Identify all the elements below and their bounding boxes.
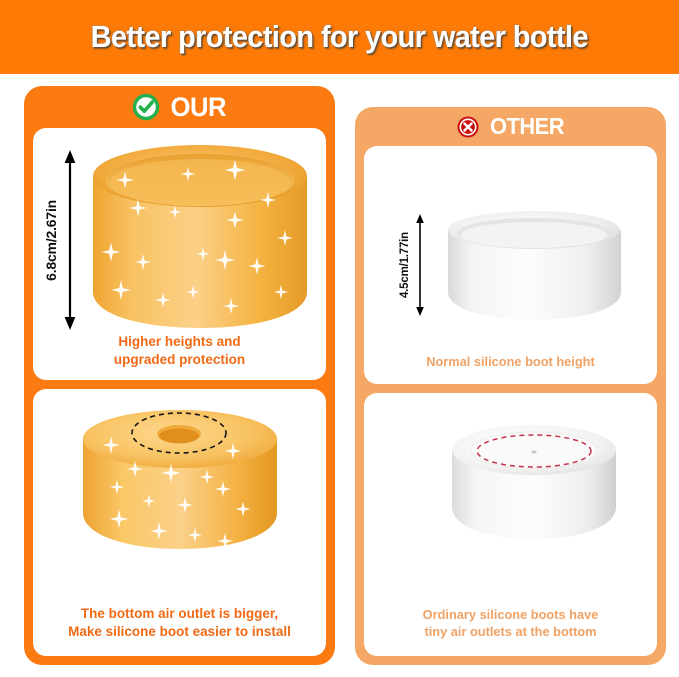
our-panel: OUR 6.8cm/2.67in bbox=[24, 86, 335, 665]
green-check-circle-icon bbox=[131, 92, 161, 122]
tiny-air-outlet-card: Ordinary silicone boots have tiny air ou… bbox=[364, 393, 657, 656]
higher-height-card: 6.8cm/2.67in bbox=[33, 128, 326, 380]
other-panel: OTHER 4.5cm/1.77in bbox=[355, 107, 666, 665]
header-banner: Better protection for your water bottle bbox=[0, 0, 679, 74]
height-dimension-label-other: 4.5cm/1.77in bbox=[399, 232, 411, 298]
tiny-air-outlet-figure bbox=[364, 393, 657, 607]
white-silicone-boot-bottom-view bbox=[446, 415, 626, 555]
height-dimension-label-our: 6.8cm/2.67in bbox=[43, 200, 59, 281]
double-arrow-icon bbox=[62, 150, 78, 330]
double-arrow-icon bbox=[414, 214, 426, 316]
comparison-area: OUR 6.8cm/2.67in bbox=[0, 74, 679, 677]
other-panel-label: OTHER bbox=[489, 113, 563, 140]
our-panel-header: OUR bbox=[24, 86, 335, 128]
white-silicone-boot-short bbox=[442, 208, 627, 328]
tiny-air-outlet-caption: Ordinary silicone boots have tiny air ou… bbox=[364, 607, 657, 656]
orange-silicone-boot-tall bbox=[85, 142, 315, 342]
other-cards: 4.5cm/1.77in bbox=[364, 146, 657, 656]
our-panel-label: OUR bbox=[171, 92, 227, 123]
height-dimension-other: 4.5cm/1.77in bbox=[399, 214, 426, 316]
red-cross-circle-icon bbox=[456, 115, 480, 139]
bottom-air-outlet-figure bbox=[33, 389, 326, 605]
normal-height-figure: 4.5cm/1.77in bbox=[364, 146, 657, 354]
orange-silicone-boot-bottom-view bbox=[75, 401, 285, 556]
bottom-air-outlet-caption: The bottom air outlet is bigger, Make si… bbox=[33, 605, 326, 656]
normal-height-caption: Normal silicone boot height bbox=[364, 354, 657, 384]
our-cards: 6.8cm/2.67in bbox=[33, 128, 326, 656]
page-title: Better protection for your water bottle bbox=[91, 19, 588, 55]
normal-height-card: 4.5cm/1.77in bbox=[364, 146, 657, 384]
other-panel-header: OTHER bbox=[355, 107, 666, 146]
bottom-air-outlet-card: The bottom air outlet is bigger, Make si… bbox=[33, 389, 326, 656]
higher-height-figure: 6.8cm/2.67in bbox=[33, 128, 326, 333]
height-dimension-our: 6.8cm/2.67in bbox=[43, 150, 78, 330]
